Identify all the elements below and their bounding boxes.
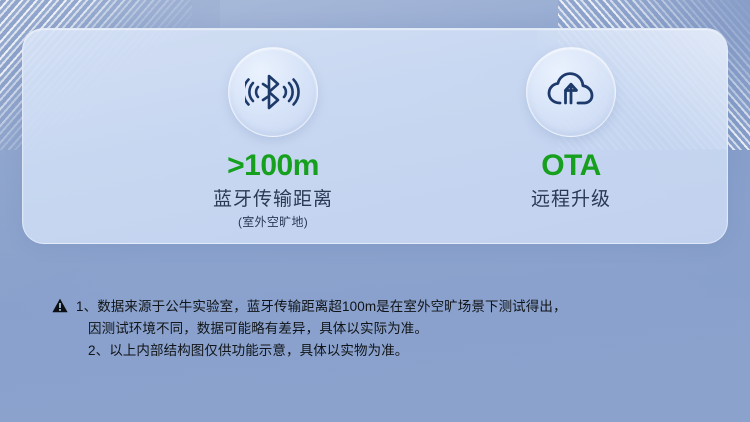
bluetooth-signal-icon xyxy=(228,47,318,137)
footnote-line: 因测试环境不同，数据可能略有差异，具体以实际为准。 xyxy=(76,318,567,340)
feature-card: >100m 蓝牙传输距离 (室外空旷地) OTA 远程升级 xyxy=(22,28,728,244)
feature-stat-label: 蓝牙传输距离 xyxy=(213,190,333,211)
feature-stat-value: >100m xyxy=(227,151,319,181)
feature-stat-label: 远程升级 xyxy=(531,190,611,211)
footnote: 1、数据来源于公牛实验室，蓝牙传输距离超100m是在室外空旷场景下测试得出， 因… xyxy=(52,296,712,362)
feature-list: >100m 蓝牙传输距离 (室外空旷地) OTA 远程升级 xyxy=(23,29,727,243)
footnote-line: 2、以上内部结构图仅供功能示意，具体以实物为准。 xyxy=(76,340,567,362)
cloud-upload-icon xyxy=(526,47,616,137)
feature-stat-sublabel: (室外空旷地) xyxy=(238,216,308,229)
feature-stat-value: OTA xyxy=(541,151,601,181)
footnote-line: 1、数据来源于公牛实验室，蓝牙传输距离超100m是在室外空旷场景下测试得出， xyxy=(76,296,567,318)
warning-triangle-icon xyxy=(52,298,68,318)
promo-banner: >100m 蓝牙传输距离 (室外空旷地) OTA 远程升级 xyxy=(0,0,750,422)
footnote-text: 1、数据来源于公牛实验室，蓝牙传输距离超100m是在室外空旷场景下测试得出， 因… xyxy=(76,296,567,362)
feature-ota: OTA 远程升级 xyxy=(526,47,616,211)
feature-bluetooth: >100m 蓝牙传输距离 (室外空旷地) xyxy=(213,47,333,229)
